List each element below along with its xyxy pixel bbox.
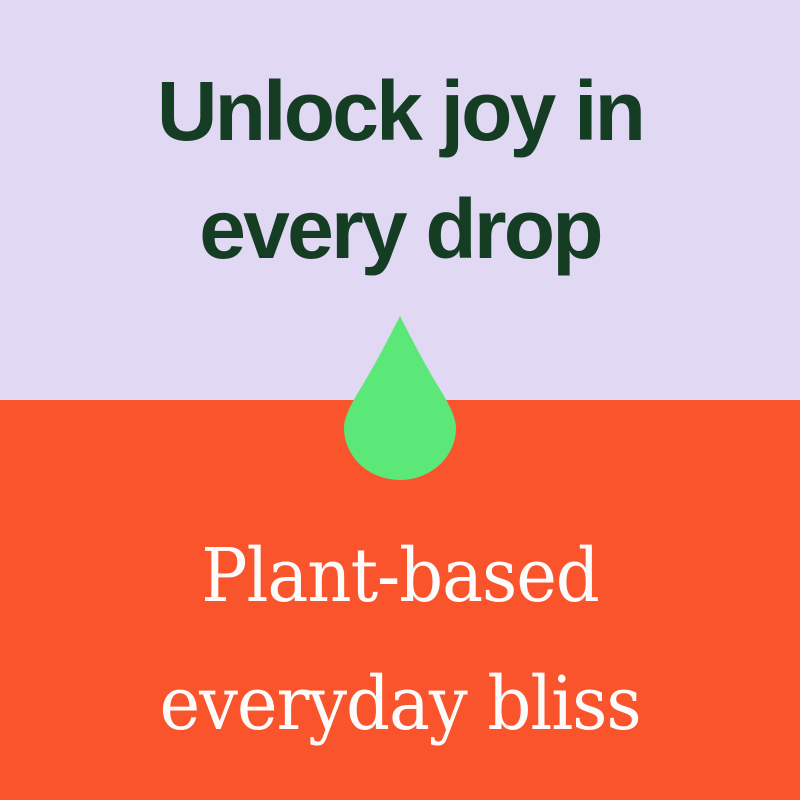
subline: Plant-based everyday bliss: [0, 512, 800, 768]
promo-poster: Unlock joy in every drop Plant-based eve…: [0, 0, 800, 800]
water-droplet-icon: [344, 316, 456, 480]
headline-line-2: every drop: [0, 170, 800, 288]
subline-line-2: everyday bliss: [28, 640, 772, 768]
headline: Unlock joy in every drop: [0, 52, 800, 288]
subline-line-1: Plant-based: [28, 512, 772, 640]
headline-line-1: Unlock joy in: [0, 52, 800, 170]
